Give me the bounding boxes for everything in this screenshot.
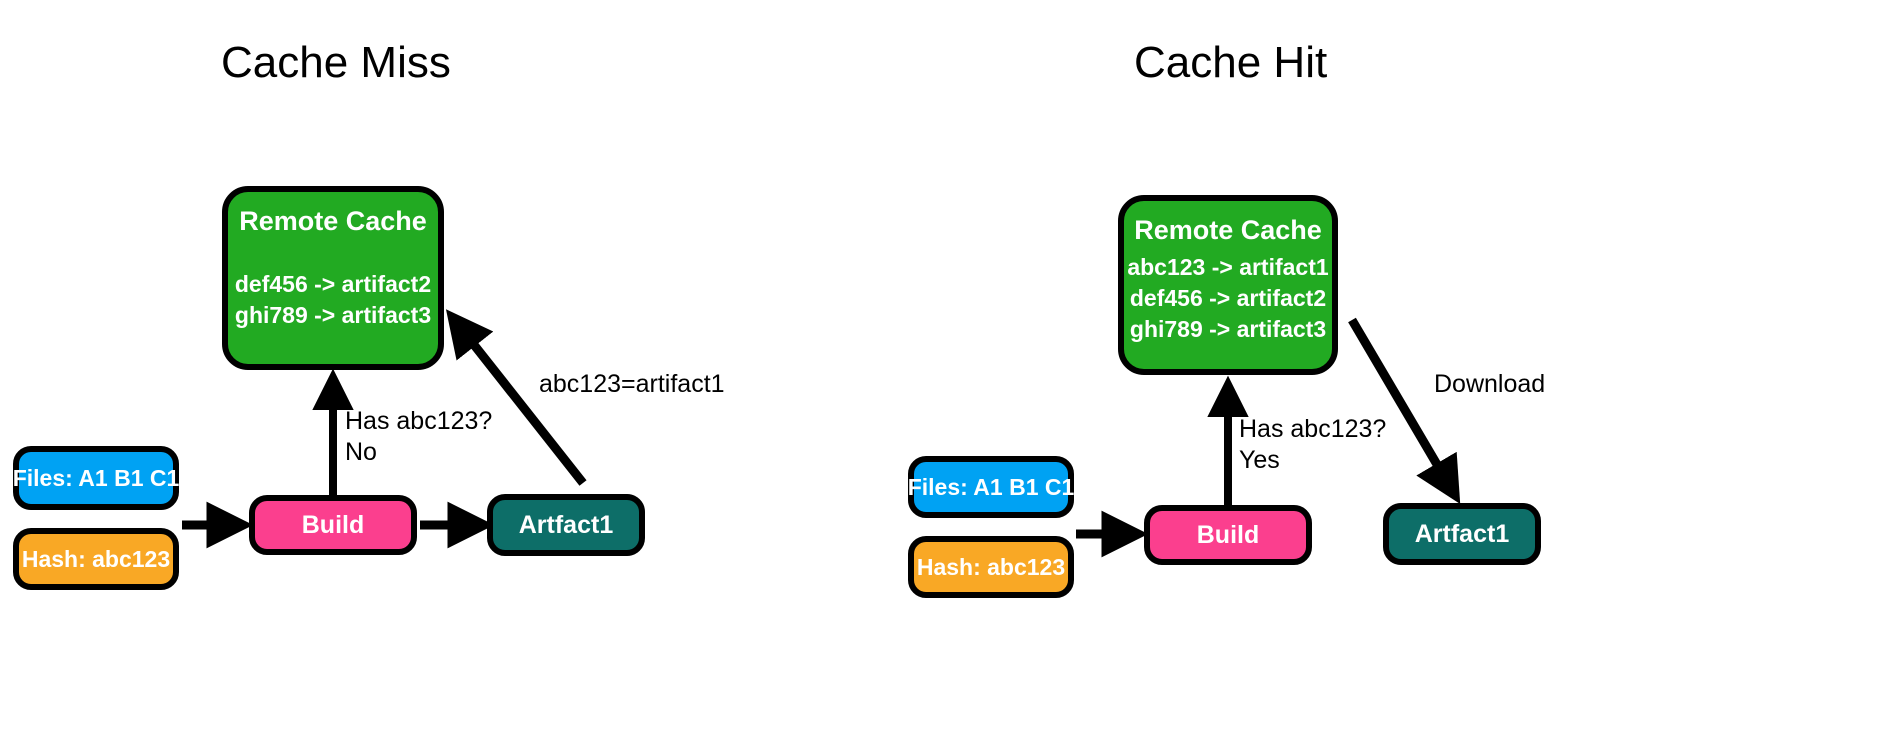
remote-cache-node-miss[interactable]: Remote Cache def456 -> artifact2 ghi789 …: [222, 186, 444, 370]
artifact-node-hit[interactable]: Artfact1: [1383, 503, 1541, 565]
build-node-hit[interactable]: Build: [1144, 505, 1312, 565]
panel-title-cache-miss: Cache Miss: [221, 38, 451, 88]
edge-label-query-miss: Has abc123? No: [345, 406, 492, 469]
files-node-hit[interactable]: Files: A1 B1 C1: [908, 456, 1074, 518]
panel-title-cache-hit: Cache Hit: [1134, 38, 1327, 88]
edge-label-upload-miss: abc123=artifact1: [539, 369, 725, 400]
remote-cache-node-hit[interactable]: Remote Cache abc123 -> artifact1 def456 …: [1118, 195, 1338, 375]
remote-cache-title-miss: Remote Cache: [239, 206, 427, 237]
edge-label-download-hit: Download: [1434, 369, 1545, 400]
hash-node-miss[interactable]: Hash: abc123: [13, 528, 179, 590]
cache-entry-miss-0: def456 -> artifact2: [235, 269, 431, 300]
cache-entry-hit-2: ghi789 -> artifact3: [1130, 314, 1326, 345]
cache-entry-hit-1: def456 -> artifact2: [1130, 283, 1326, 314]
edge-label-query-hit: Has abc123? Yes: [1239, 414, 1386, 477]
artifact-node-miss[interactable]: Artfact1: [487, 494, 645, 556]
files-label-hit: Files: A1 B1 C1: [908, 474, 1075, 501]
build-label-hit: Build: [1197, 521, 1260, 550]
artifact-label-miss: Artfact1: [519, 511, 613, 540]
files-node-miss[interactable]: Files: A1 B1 C1: [13, 446, 179, 510]
build-node-miss[interactable]: Build: [249, 495, 417, 555]
artifact-label-hit: Artfact1: [1415, 520, 1509, 549]
cache-entry-hit-0: abc123 -> artifact1: [1127, 252, 1328, 283]
hash-label-hit: Hash: abc123: [917, 554, 1065, 581]
files-label-miss: Files: A1 B1 C1: [13, 465, 180, 492]
arrow-layer: [0, 0, 1894, 746]
diagram-canvas: Cache Miss Remote Cache def456 -> artifa…: [0, 0, 1894, 746]
cache-entry-miss-1: ghi789 -> artifact3: [235, 300, 431, 331]
hash-node-hit[interactable]: Hash: abc123: [908, 536, 1074, 598]
remote-cache-title-hit: Remote Cache: [1134, 215, 1322, 246]
build-label-miss: Build: [302, 511, 365, 540]
hash-label-miss: Hash: abc123: [22, 546, 170, 573]
